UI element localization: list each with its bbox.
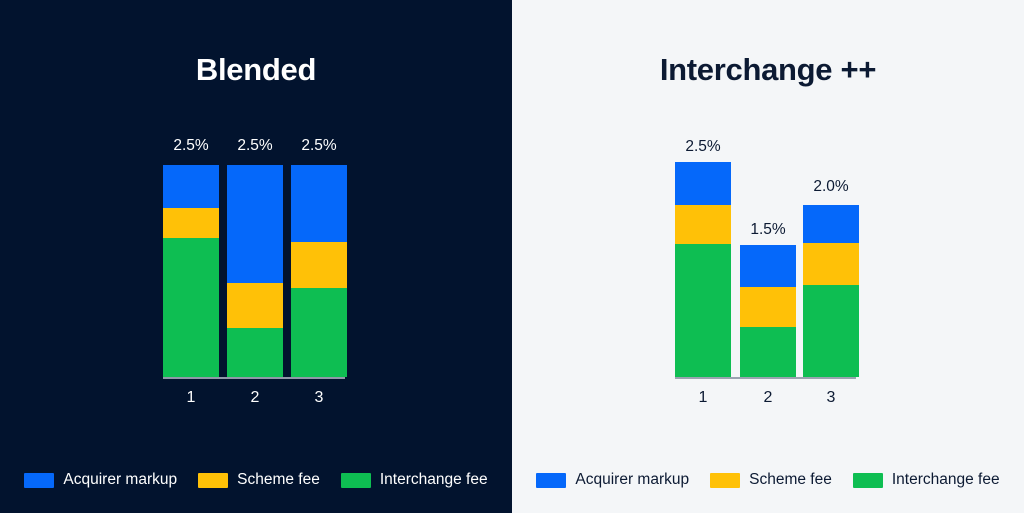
legend-item-acquirer-markup: Acquirer markup <box>536 471 689 489</box>
segment-acquirer-markup <box>675 162 731 205</box>
bar-total-label: 2.5% <box>661 138 745 156</box>
legend-label: Acquirer markup <box>63 471 177 489</box>
legend-swatch-icon <box>710 473 740 488</box>
x-axis-line <box>675 377 856 379</box>
segment-interchange-fee <box>291 288 347 377</box>
bar-total-label: 2.5% <box>277 137 361 155</box>
segment-acquirer-markup <box>163 165 219 208</box>
legend-label: Interchange fee <box>380 471 488 489</box>
chart-blended: 2.5% 2.5% 2.5% <box>0 0 512 420</box>
stacked-bar <box>227 165 283 377</box>
bar-group-ipp-1: 2.5% <box>675 0 731 377</box>
x-tick-label-3: 3 <box>803 388 859 408</box>
segment-acquirer-markup <box>227 165 283 283</box>
stacked-bar <box>740 245 796 377</box>
panel-interchange-plus-plus: Interchange ++ 2.5% 1.5% <box>512 0 1024 513</box>
bar-total-label: 1.5% <box>726 221 810 239</box>
panel-blended: Blended 2.5% 2.5% <box>0 0 512 513</box>
legend-item-scheme-fee: Scheme fee <box>710 471 832 489</box>
legend-label: Interchange fee <box>892 471 1000 489</box>
legend-interchange-plus-plus: Acquirer markup Scheme fee Interchange f… <box>512 471 1024 489</box>
segment-interchange-fee <box>227 328 283 377</box>
segment-scheme-fee <box>227 283 283 328</box>
legend-item-interchange-fee: Interchange fee <box>341 471 488 489</box>
segment-scheme-fee <box>163 208 219 238</box>
x-tick-label-1: 1 <box>675 388 731 408</box>
chart-interchange-plus-plus: 2.5% 1.5% 2.0% <box>512 0 1024 420</box>
segment-acquirer-markup <box>803 205 859 243</box>
bar-group-ipp-3: 2.0% <box>803 0 859 377</box>
legend-swatch-icon <box>24 473 54 488</box>
legend-swatch-icon <box>853 473 883 488</box>
legend-item-acquirer-markup: Acquirer markup <box>24 471 177 489</box>
bar-group-blended-3: 2.5% <box>291 0 347 377</box>
stacked-bar <box>163 165 219 377</box>
legend-swatch-icon <box>341 473 371 488</box>
segment-interchange-fee <box>803 285 859 377</box>
bar-group-ipp-2: 1.5% <box>740 0 796 377</box>
stacked-bar <box>291 165 347 377</box>
x-tick-label-2: 2 <box>227 388 283 408</box>
segment-interchange-fee <box>675 244 731 377</box>
stacked-bar <box>675 162 731 377</box>
segment-interchange-fee <box>740 327 796 377</box>
legend-swatch-icon <box>536 473 566 488</box>
legend-item-interchange-fee: Interchange fee <box>853 471 1000 489</box>
segment-scheme-fee <box>740 287 796 327</box>
legend-label: Scheme fee <box>749 471 832 489</box>
legend-blended: Acquirer markup Scheme fee Interchange f… <box>0 471 512 489</box>
x-tick-label-3: 3 <box>291 388 347 408</box>
bar-group-blended-1: 2.5% <box>163 0 219 377</box>
segment-acquirer-markup <box>291 165 347 242</box>
segment-scheme-fee <box>675 205 731 244</box>
segment-scheme-fee <box>291 242 347 288</box>
bar-total-label: 2.0% <box>789 178 873 196</box>
legend-item-scheme-fee: Scheme fee <box>198 471 320 489</box>
legend-label: Acquirer markup <box>575 471 689 489</box>
stacked-bar <box>803 205 859 377</box>
segment-acquirer-markup <box>740 245 796 287</box>
dual-chart-figure: Blended 2.5% 2.5% <box>0 0 1024 513</box>
bar-group-blended-2: 2.5% <box>227 0 283 377</box>
legend-swatch-icon <box>198 473 228 488</box>
legend-label: Scheme fee <box>237 471 320 489</box>
x-tick-label-1: 1 <box>163 388 219 408</box>
x-axis-line <box>163 377 345 379</box>
x-tick-label-2: 2 <box>740 388 796 408</box>
segment-scheme-fee <box>803 243 859 285</box>
segment-interchange-fee <box>163 238 219 377</box>
